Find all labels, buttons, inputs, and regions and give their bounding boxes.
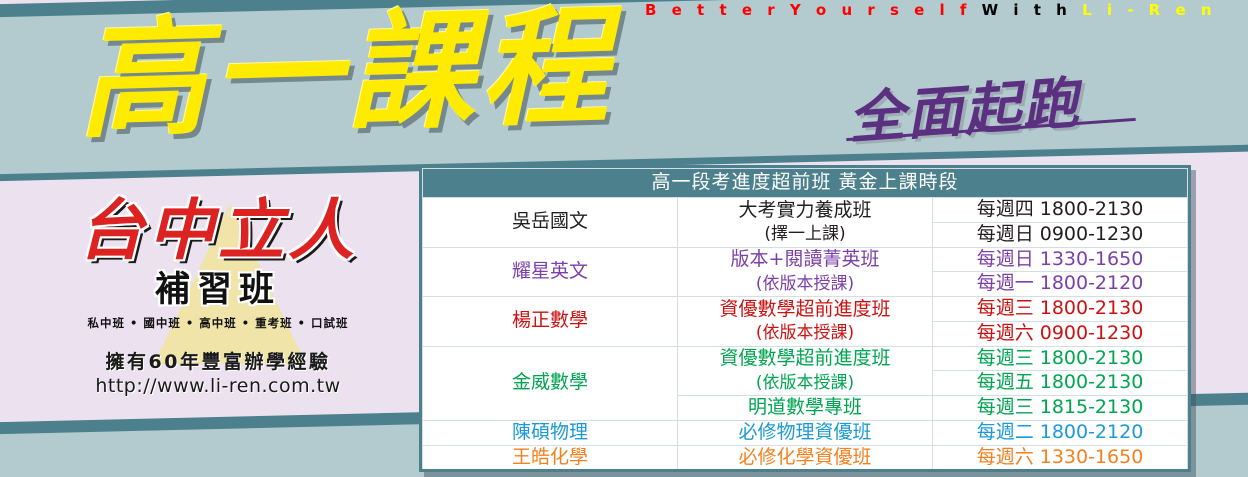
course-note: (擇一上課)	[764, 224, 845, 244]
table-row: 耀星英文版本+閱讀菁英班(依版本授課)每週日 1330-1650	[423, 247, 1188, 272]
teacher-name-cell: 陳碩物理	[423, 420, 678, 445]
teacher-name-cell: 耀星英文	[423, 247, 678, 297]
class-time-cell: 每週四 1800-2130	[933, 198, 1188, 223]
schedule-table: 高一段考進度超前班 黃金上課時段吳岳國文大考實力養成班(擇一上課)每週四 180…	[422, 168, 1188, 470]
logo-website-url: http://www.li-ren.com.tw	[38, 375, 398, 397]
class-time-cell: 每週六 1330-1650	[933, 445, 1188, 470]
class-time-cell: 每週三 1800-2130	[933, 346, 1188, 371]
school-logo: 台中立人 補習班 私中班 • 國中班 • 高中班 • 重考班 • 口試班 擁有6…	[38, 196, 398, 397]
schedule-table-container: 高一段考進度超前班 黃金上課時段吳岳國文大考實力養成班(擇一上課)每週四 180…	[419, 165, 1191, 472]
class-time-cell: 每週一 1800-2120	[933, 272, 1188, 297]
teacher-name-cell: 吳岳國文	[423, 198, 678, 248]
class-time-cell: 每週二 1800-2120	[933, 420, 1188, 445]
course-name-cell: 必修物理資優班	[678, 420, 933, 445]
class-time-cell: 每週五 1800-2130	[933, 371, 1188, 396]
tagline-slogan: B e t t e r Y o u r s e l f W i t h L i …	[645, 1, 1217, 19]
poster-canvas: B e t t e r Y o u r s e l f W i t h L i …	[0, 0, 1248, 477]
logo-kind: 補習班	[38, 261, 398, 312]
course-name-cell: 資優數學超前進度班(依版本授課)	[678, 346, 933, 396]
course-name-cell: 必修化學資優班	[678, 445, 933, 470]
logo-experience: 擁有60年豐富辦學經驗	[38, 347, 398, 374]
table-row: 金威數學資優數學超前進度班(依版本授課)每週三 1800-2130	[423, 346, 1188, 371]
teacher-name-cell: 王皓化學	[423, 445, 678, 470]
table-header-cell: 高一段考進度超前班 黃金上課時段	[423, 169, 1188, 198]
teacher-name-cell: 楊正數學	[423, 297, 678, 347]
course-name-cell: 大考實力養成班(擇一上課)	[678, 198, 933, 248]
page-title: 高一課程	[76, 3, 615, 146]
course-name-cell: 版本+閱讀菁英班(依版本授課)	[678, 247, 933, 297]
course-note: (依版本授課)	[756, 274, 854, 294]
logo-name: 台中立人	[38, 196, 398, 265]
course-name-cell: 明道數學專班	[678, 396, 933, 421]
slogan-part-li-ren: L i - R e n	[1082, 1, 1216, 19]
class-time-cell: 每週日 0900-1230	[933, 222, 1188, 247]
table-row: 楊正數學資優數學超前進度班(依版本授課)每週三 1800-2130	[423, 297, 1188, 322]
course-note: (依版本授課)	[756, 373, 854, 393]
logo-class-list: 私中班 • 國中班 • 高中班 • 重考班 • 口試班	[38, 315, 398, 331]
table-row: 陳碩物理必修物理資優班每週二 1800-2120	[423, 420, 1188, 445]
class-time-cell: 每週三 1815-2130	[933, 396, 1188, 421]
table-row: 吳岳國文大考實力養成班(擇一上課)每週四 1800-2130	[423, 198, 1188, 223]
table-row: 王皓化學必修化學資優班每週六 1330-1650	[423, 445, 1188, 470]
teacher-name-cell: 金威數學	[423, 346, 678, 420]
slogan-part-with: W i t h	[982, 1, 1082, 19]
course-name-cell: 資優數學超前進度班(依版本授課)	[678, 297, 933, 347]
slogan-part-better-yourself: B e t t e r Y o u r s e l f	[645, 1, 982, 19]
course-note: (依版本授課)	[756, 323, 854, 343]
class-time-cell: 每週六 0900-1230	[933, 321, 1188, 346]
class-time-cell: 每週日 1330-1650	[933, 247, 1188, 272]
page-subtitle: 全面起跑	[845, 58, 1082, 155]
table-header-row: 高一段考進度超前班 黃金上課時段	[423, 169, 1188, 198]
class-time-cell: 每週三 1800-2130	[933, 297, 1188, 322]
